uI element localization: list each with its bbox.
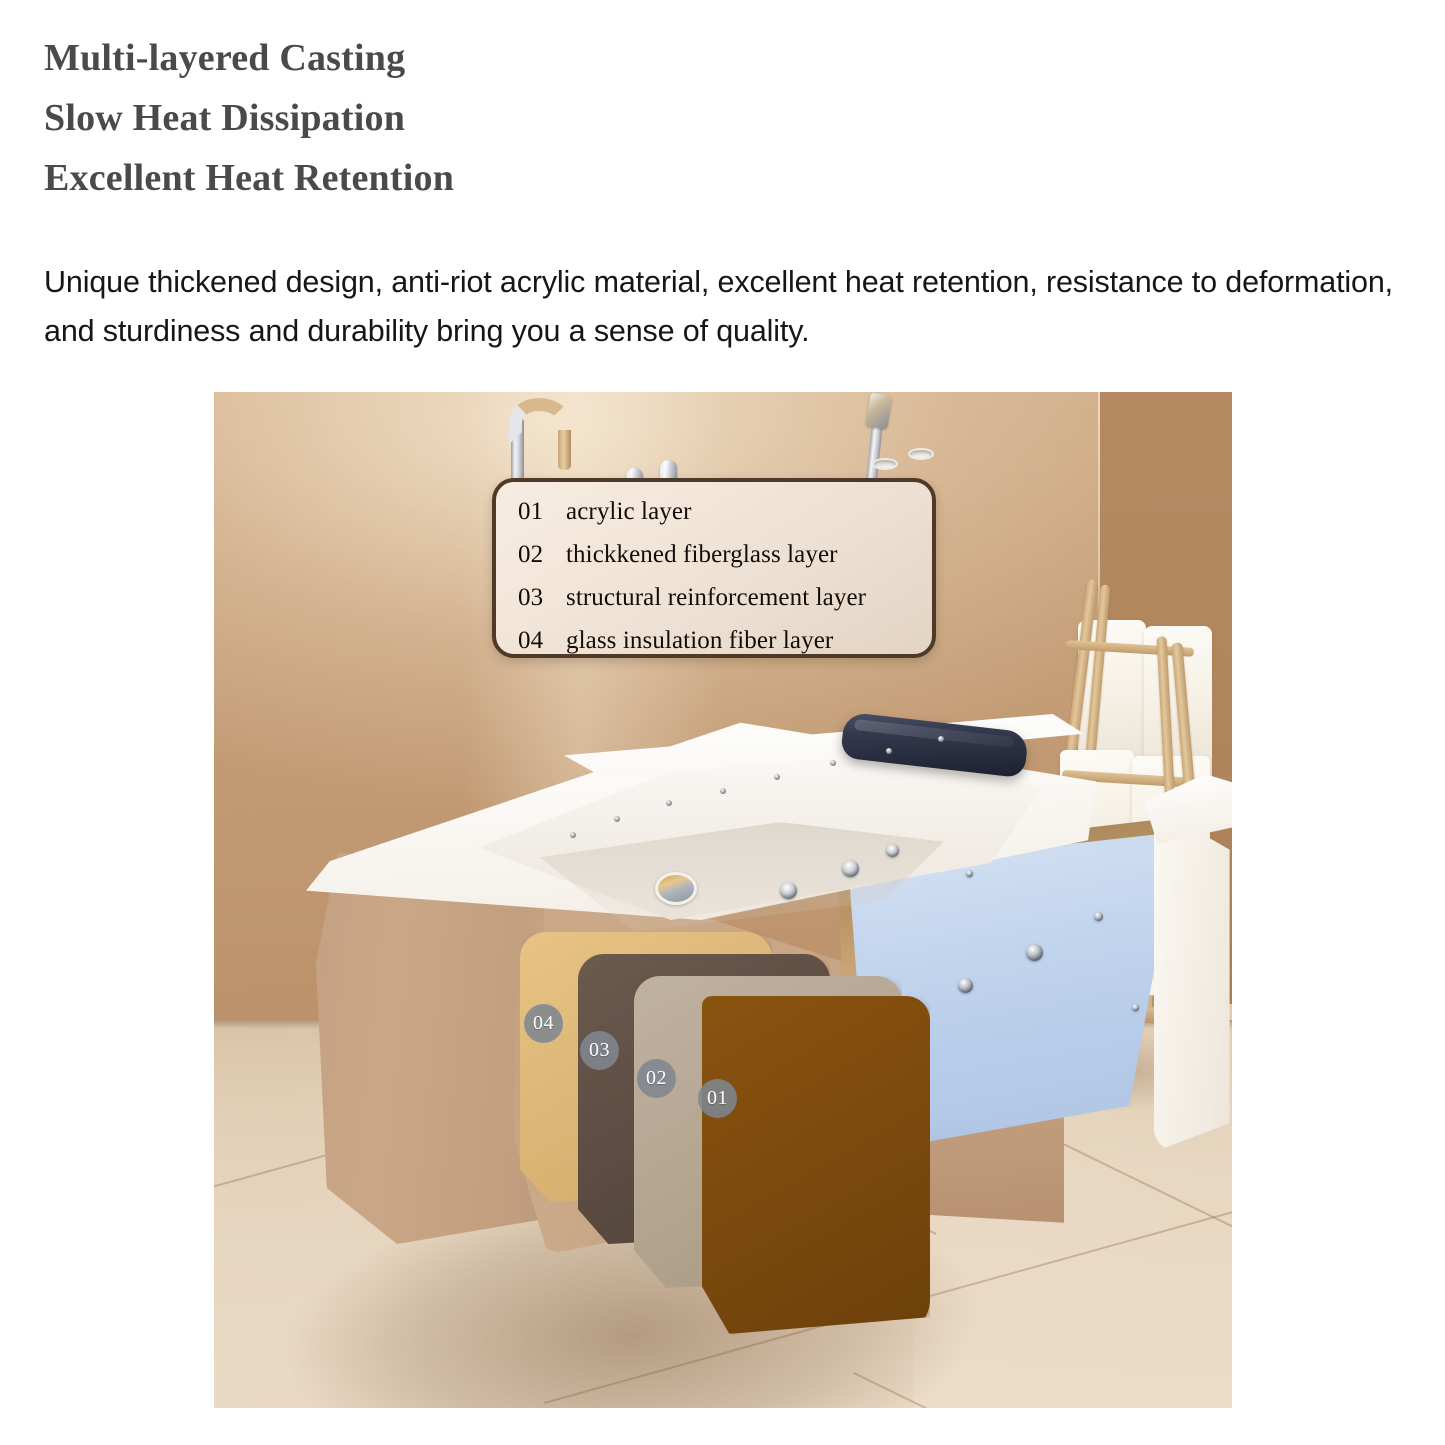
heading-line-1: Multi-layered Casting [44,28,1404,88]
legend-row: 04 glass insulation fiber layer [518,627,932,670]
legend-number: 04 [518,627,566,655]
legend-row: 02 thickkened fiberglass layer [518,541,932,584]
product-scene-image: 04 03 02 01 01 acrylic layer 02 thickken… [214,392,1232,1408]
legend-label: acrylic layer [566,498,692,526]
heading-block: Multi-layered Casting Slow Heat Dissipat… [44,28,1404,208]
legend-number: 02 [518,541,566,569]
legend-row: 03 structural reinforcement layer [518,584,932,627]
callout-badge-02[interactable]: 02 [637,1059,676,1098]
legend-label: structural reinforcement layer [566,584,866,612]
jet-nozzle [958,978,973,993]
jet-nozzle [842,860,859,877]
air-hole [666,800,672,806]
jet-nozzle [966,870,973,877]
deck-port-2 [908,448,934,460]
jet-nozzle [1094,912,1103,921]
faucet-spout-tip[interactable] [558,430,571,470]
callout-badge-01[interactable]: 01 [698,1079,737,1118]
callout-badge-04[interactable]: 04 [524,1004,563,1043]
handheld-shower-head[interactable] [865,392,892,429]
layer-slab-acrylic [702,996,930,1334]
heading-line-2: Slow Heat Dissipation [44,88,1404,148]
jet-nozzle [886,844,899,857]
jet-nozzle [1132,1004,1139,1011]
jet-nozzle [780,882,797,899]
air-hole [614,816,620,822]
bathtub-right-apron [1154,792,1232,1152]
description-paragraph: Unique thickened design, anti-riot acryl… [44,258,1419,356]
overflow-waste-trim [655,872,697,905]
jet-nozzle [1026,944,1043,961]
air-hole [774,774,780,780]
air-hole [886,748,892,754]
air-hole [938,736,944,742]
deck-port-1 [872,458,898,470]
air-hole [720,788,726,794]
legend-label: glass insulation fiber layer [566,627,833,655]
layer-legend-card: 01 acrylic layer 02 thickkened fiberglas… [492,478,936,658]
legend-number: 01 [518,498,566,526]
heading-line-3: Excellent Heat Retention [44,148,1404,208]
callout-badge-03[interactable]: 03 [580,1031,619,1070]
legend-label: thickkened fiberglass layer [566,541,838,569]
legend-number: 03 [518,584,566,612]
legend-row: 01 acrylic layer [518,498,932,541]
air-hole [570,832,576,838]
air-hole [830,760,836,766]
